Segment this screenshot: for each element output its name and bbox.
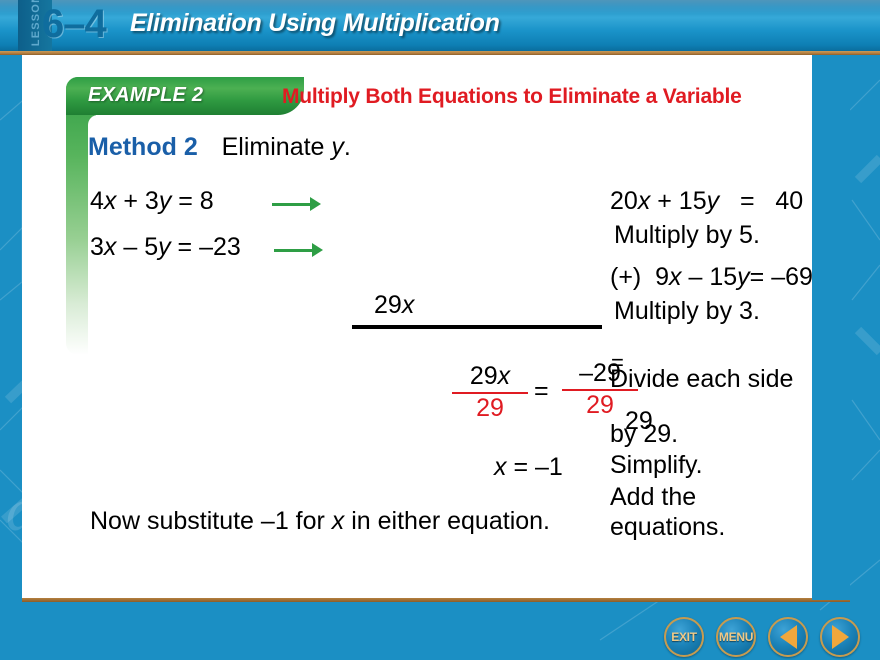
- right-blue-strip: [812, 55, 850, 600]
- annotation-add-cont: equations.: [610, 513, 725, 542]
- sum-result: 29x: [374, 291, 414, 320]
- lesson-label: LESSON: [30, 0, 42, 50]
- header-bar: LESSON 6–4 Elimination Using Multiplicat…: [0, 0, 880, 51]
- method-text: Eliminate y.: [222, 133, 351, 161]
- annotation-divide-cont: by 29.: [610, 420, 678, 449]
- triangle-right-icon: [832, 625, 849, 649]
- multiply-note-1: Multiply by 5.: [614, 221, 760, 250]
- scaled-equation-1: 20x + 15y = 40: [610, 187, 803, 216]
- menu-button-label: MENU: [719, 630, 753, 644]
- exit-button[interactable]: EXIT: [664, 617, 704, 657]
- exit-button-label: EXIT: [671, 630, 696, 644]
- scaled-equation-2: (+) 9x – 15y= –69: [610, 263, 813, 292]
- next-button[interactable]: [820, 617, 860, 657]
- fraction-left-numerator: 29x: [452, 363, 528, 389]
- page-title: Elimination Using Multiplication: [130, 9, 500, 38]
- triangle-left-icon: [780, 625, 797, 649]
- fraction-equals: =: [534, 377, 549, 406]
- equation-1: 4x + 3y = 8: [90, 187, 214, 216]
- solution-line: x = –1: [494, 453, 563, 482]
- content-page: EXAMPLE 2 Multiply Both Equations to Eli…: [22, 55, 850, 600]
- annotation-add: Add the: [610, 483, 696, 512]
- annotation-simplify: Simplify.: [610, 451, 703, 480]
- multiply-note-2: Multiply by 3.: [614, 297, 760, 326]
- slide-root: a LESSON 6–4 Elimination Using Multiplic…: [0, 0, 880, 660]
- fraction-left: 29x 29: [452, 363, 528, 422]
- fraction-left-denominator: 29: [452, 395, 528, 421]
- example-banner-label: EXAMPLE 2: [88, 84, 203, 107]
- sum-divider-line: [352, 325, 602, 329]
- previous-button[interactable]: [768, 617, 808, 657]
- method-label: Method 2: [88, 133, 198, 161]
- closing-text: Now substitute –1 for x in either equati…: [90, 507, 550, 536]
- menu-button[interactable]: MENU: [716, 617, 756, 657]
- example-title: Multiply Both Equations to Eliminate a V…: [282, 85, 742, 109]
- annotation-divide: Divide each side: [610, 365, 793, 394]
- page-bottom-shadow: [22, 598, 850, 602]
- method-line: Method 2 Eliminate y.: [88, 133, 351, 162]
- lesson-number: 6–4: [42, 2, 106, 47]
- equation-2: 3x – 5y = –23: [90, 233, 241, 262]
